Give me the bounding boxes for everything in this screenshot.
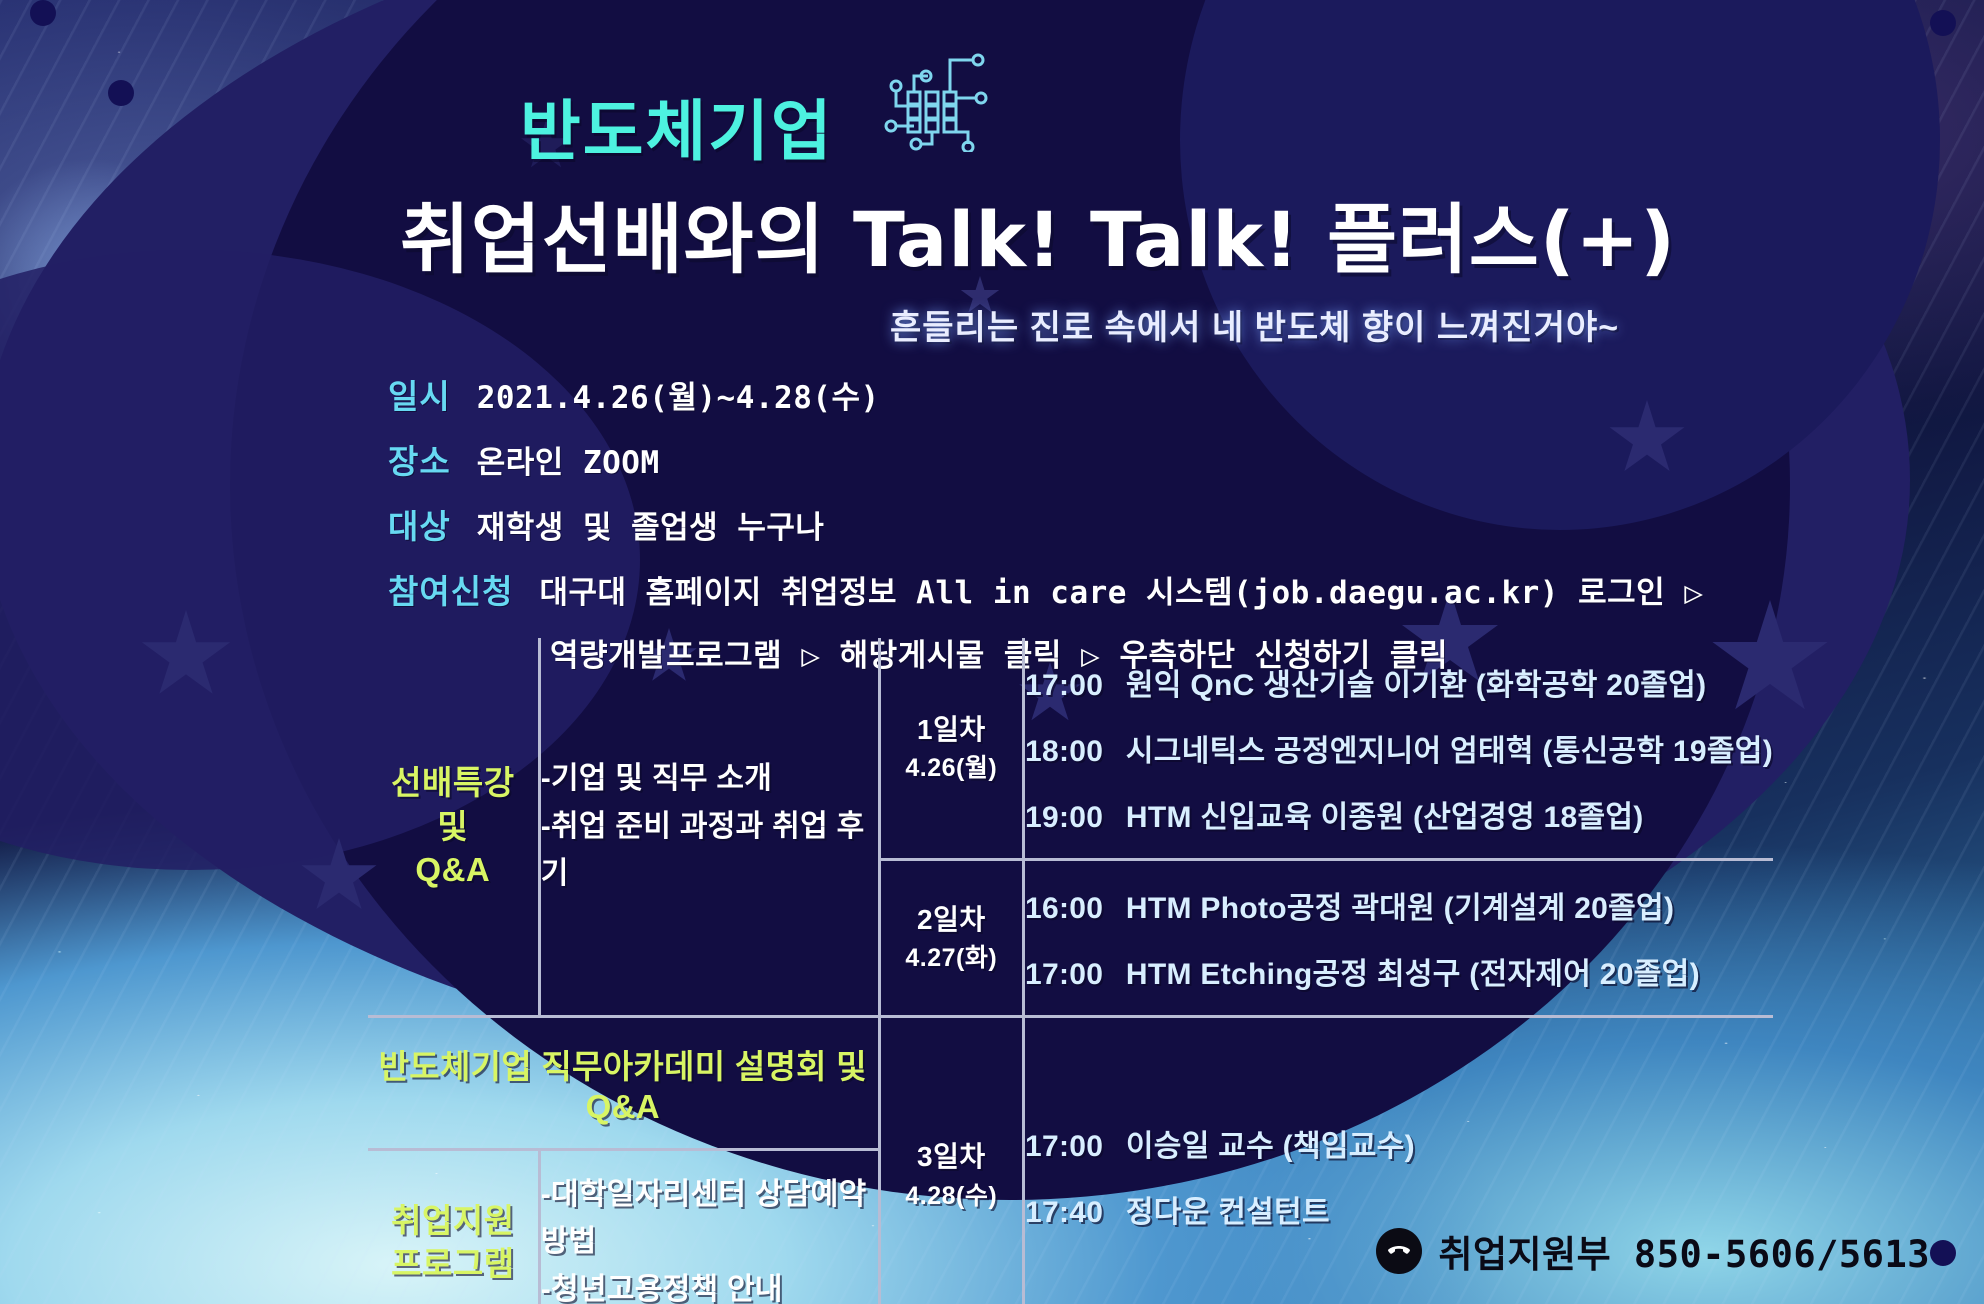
session-text: 이승일 교수 (책임교수) [1126,1130,1415,1163]
day-label: 3일차 [881,1137,1022,1178]
cell-category-support: 취업지원 프로그램 [368,1150,539,1304]
day-date: 4.28(수) [881,1178,1022,1214]
session-time: 17:00 [1025,1130,1103,1163]
cell-day1: 1일차 4.26(월) [879,638,1023,860]
session-text: HTM Etching공정 최성구 (전자제어 20졸업) [1126,958,1700,991]
info-row-datetime: 일시 2021.4.26(월)~4.28(수) [388,370,1704,418]
semiconductor-chip-icon [882,48,990,157]
session-text: HTM Photo공정 곽대원 (기계설계 20졸업) [1126,892,1674,925]
category-line: 프로그램 [368,1242,538,1286]
day-date: 4.26(월) [881,750,1022,786]
session-time: 17:40 [1025,1196,1103,1229]
cell-category-lecture: 선배특강 및 Q&A [368,638,539,1017]
description-line: -대학일자리센터 상담예약 방법 [541,1171,878,1266]
cell-description-lecture: -기업 및 직무 소개 -취업 준비 과정과 취업 후기 [539,638,879,1017]
info-value: 재학생 및 졸업생 누구나 [477,502,825,547]
table-row: 선배특강 및 Q&A -기업 및 직무 소개 -취업 준비 과정과 취업 후기 [368,638,1773,860]
info-value: 대구대 홈페이지 취업정보 All in care 시스템(job.daegu.… [539,567,1703,612]
cell-day2: 2일차 4.27(화) [879,860,1023,1017]
description-line: -청년고용정책 안내 [541,1266,878,1304]
description-line: -취업 준비 과정과 취업 후기 [541,803,878,898]
description-line: -기업 및 직무 소개 [541,755,878,802]
day-label: 1일차 [881,710,1022,751]
session-item: 18:00 시그네틱스 공정엔지니어 엄태혁 (통신공학 19졸업) [1025,726,1773,770]
info-value: 2021.4.26(월)~4.28(수) [477,372,880,417]
info-label: 일시 [388,370,451,418]
session-item: 19:00 HTM 신입교육 이종원 (산업경영 18졸업) [1025,792,1773,836]
page-title-main: 취업선배와의 Talk! Talk! 플러스(+) [400,178,1676,288]
cell-day2-sessions: 16:00 HTM Photo공정 곽대원 (기계설계 20졸업) 17:00 … [1024,860,1773,1017]
table-row: 반도체기업 직무아카데미 설명회 및 Q&A 3일차 4.28(수) 17:00 [368,1017,1773,1150]
info-row-apply: 참여신청 대구대 홈페이지 취업정보 All in care 시스템(job.d… [388,565,1704,613]
footer-contact-text: 취업지원부 850-5606/5613 [1438,1224,1930,1278]
session-item: 17:00 원익 QnC 생산기술 이기환 (화학공학 20졸업) [1025,660,1773,704]
poster-tagline: 흔들리는 진로 속에서 네 반도체 향이 느껴진거야~ [890,300,1619,349]
info-row-place: 장소 온라인 ZOOM [388,435,1704,483]
phone-icon [1376,1228,1422,1274]
session-text: 정다운 컨설턴트 [1126,1196,1330,1229]
footer-contact: 취업지원부 850-5606/5613 [1376,1224,1930,1278]
session-text: 원익 QnC 생산기술 이기환 (화학공학 20졸업) [1126,669,1706,702]
session-time: 16:00 [1025,892,1103,925]
day-date: 4.27(화) [881,940,1022,976]
session-text: 시그네틱스 공정엔지니어 엄태혁 (통신공학 19졸업) [1126,735,1773,768]
info-value: 온라인 ZOOM [477,437,660,482]
cell-description-support: -대학일자리센터 상담예약 방법 -청년고용정책 안내 [539,1150,879,1304]
poster-canvas: 반도체기업 [0,0,1984,1304]
schedule-table: 선배특강 및 Q&A -기업 및 직무 소개 -취업 준비 과정과 취업 후기 [368,638,1773,1304]
info-label: 장소 [388,435,451,483]
session-time: 17:00 [1025,958,1103,991]
session-text: HTM 신입교육 이종원 (산업경영 18졸업) [1126,801,1644,834]
category-line: 선배특강 [368,761,538,805]
page-title-top: 반도체기업 [520,78,834,174]
cell-day3: 3일차 4.28(수) [879,1017,1023,1304]
day-label: 2일차 [881,900,1022,941]
category-line: 취업지원 [368,1199,538,1243]
category-line: 및 [368,805,538,849]
cell-day1-sessions: 17:00 원익 QnC 생산기술 이기환 (화학공학 20졸업) 18:00 … [1024,638,1773,860]
session-time: 19:00 [1025,801,1103,834]
info-label: 참여신청 [388,565,513,613]
info-label: 대상 [388,500,451,548]
session-item: 17:00 HTM Etching공정 최성구 (전자제어 20졸업) [1025,949,1773,993]
session-time: 18:00 [1025,735,1103,768]
session-item: 16:00 HTM Photo공정 곽대원 (기계설계 20졸업) [1025,883,1773,927]
info-row-audience: 대상 재학생 및 졸업생 누구나 [388,500,1704,548]
session-time: 17:00 [1025,669,1103,702]
cell-academy-title: 반도체기업 직무아카데미 설명회 및 Q&A [368,1017,879,1150]
category-line: Q&A [368,848,538,892]
academy-row-label: 반도체기업 직무아카데미 설명회 및 Q&A [368,1018,878,1148]
session-item: 17:00 이승일 교수 (책임교수) [1025,1121,1773,1165]
